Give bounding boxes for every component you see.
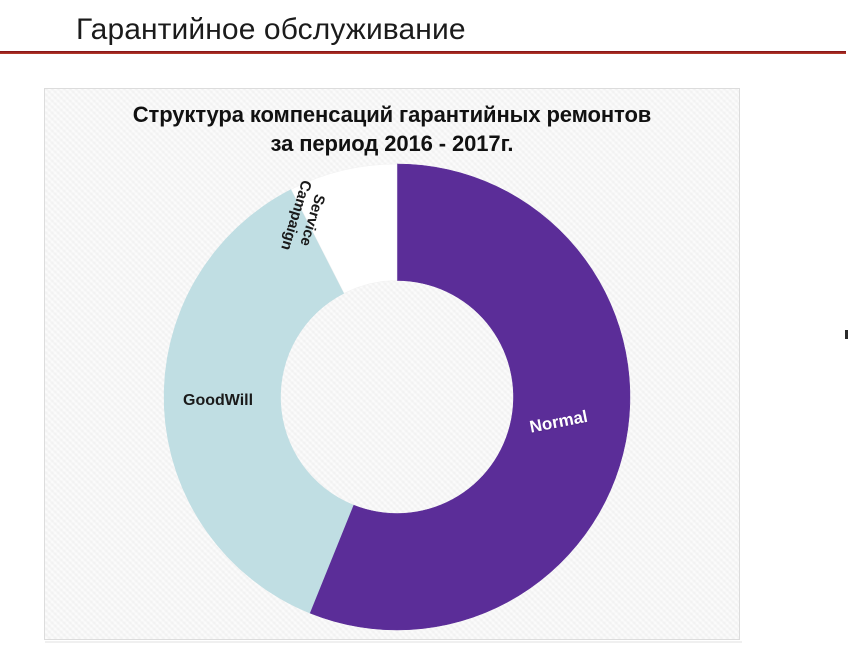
page-edge-marker — [845, 330, 848, 339]
chart-panel-shadow — [45, 641, 742, 643]
donut-chart — [160, 160, 634, 634]
chart-title: Структура компенсаций гарантийных ремонт… — [44, 100, 740, 158]
chart-title-line-2: за период 2016 - 2017г. — [44, 129, 740, 158]
chart-title-line-1: Структура компенсаций гарантийных ремонт… — [133, 102, 651, 127]
page-title: Гарантийное обслуживание — [76, 12, 466, 48]
donut-slice-group — [164, 164, 630, 630]
donut-chart-svg — [160, 160, 634, 634]
slide-canvas: Гарантийное обслуживание Структура компе… — [0, 0, 850, 649]
title-divider — [0, 51, 846, 54]
